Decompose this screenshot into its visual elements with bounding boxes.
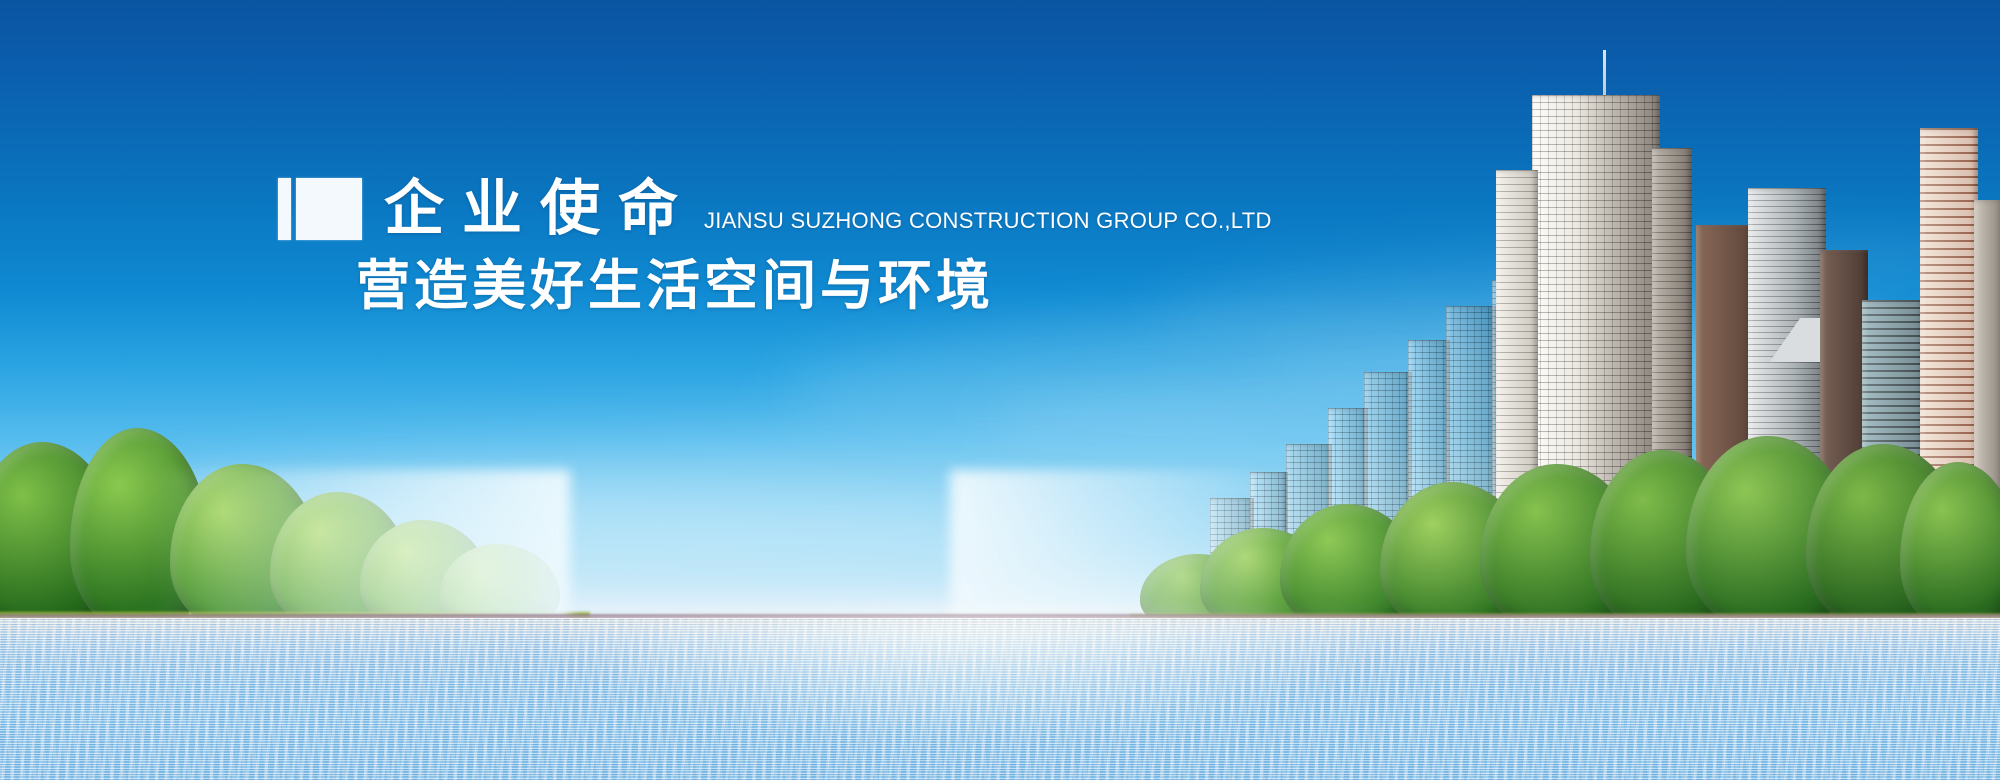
tagline: 营造美好生活空间与环境 (356, 254, 1272, 318)
page-title: 企业使命 (384, 178, 696, 240)
shoreline-haze-right (950, 470, 1280, 630)
logo-mark-icon (278, 178, 362, 240)
building-glass-tower-peak (1748, 318, 1826, 362)
logo-square-icon (296, 178, 362, 240)
banner-copy: 企业使命 JIANSU SUZHONG CONSTRUCTION GROUP C… (278, 178, 1272, 318)
company-name-english: JIANSU SUZHONG CONSTRUCTION GROUP CO.,LT… (704, 208, 1272, 234)
logo-bar-icon (278, 178, 291, 240)
shoreline-haze-left (150, 470, 570, 630)
headline-row: 企业使命 JIANSU SUZHONG CONSTRUCTION GROUP C… (278, 178, 1272, 240)
water-sun-glare (520, 616, 1420, 746)
corporate-mission-banner: 企业使命 JIANSU SUZHONG CONSTRUCTION GROUP C… (0, 0, 2000, 780)
